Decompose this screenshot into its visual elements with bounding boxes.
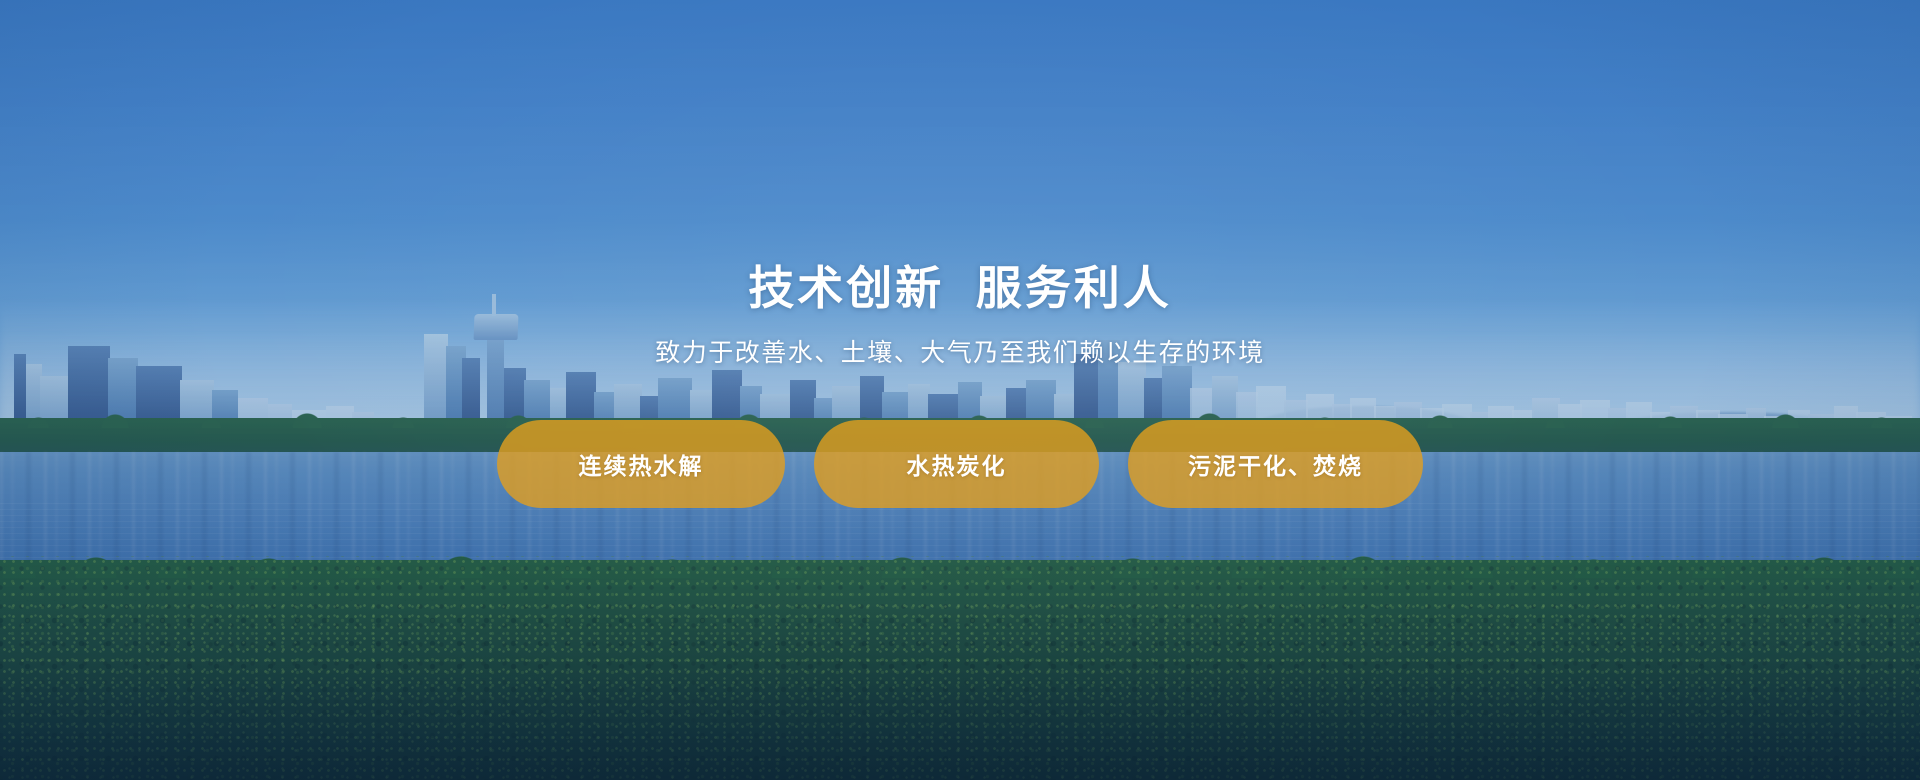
cta-button-row: 连续热水解 水热炭化 污泥干化、焚烧 [497,420,1423,508]
cta-button-sludge-drying-incineration[interactable]: 污泥干化、焚烧 [1128,420,1423,508]
hero-banner: 技术创新 服务利人 致力于改善水、土壤、大气乃至我们赖以生存的环境 连续热水解 … [0,0,1920,780]
mangrove-shadow [0,660,1920,780]
cta-button-continuous-thermal-hydrolysis[interactable]: 连续热水解 [497,420,785,508]
cta-button-hydrothermal-carbonization[interactable]: 水热炭化 [814,420,1099,508]
